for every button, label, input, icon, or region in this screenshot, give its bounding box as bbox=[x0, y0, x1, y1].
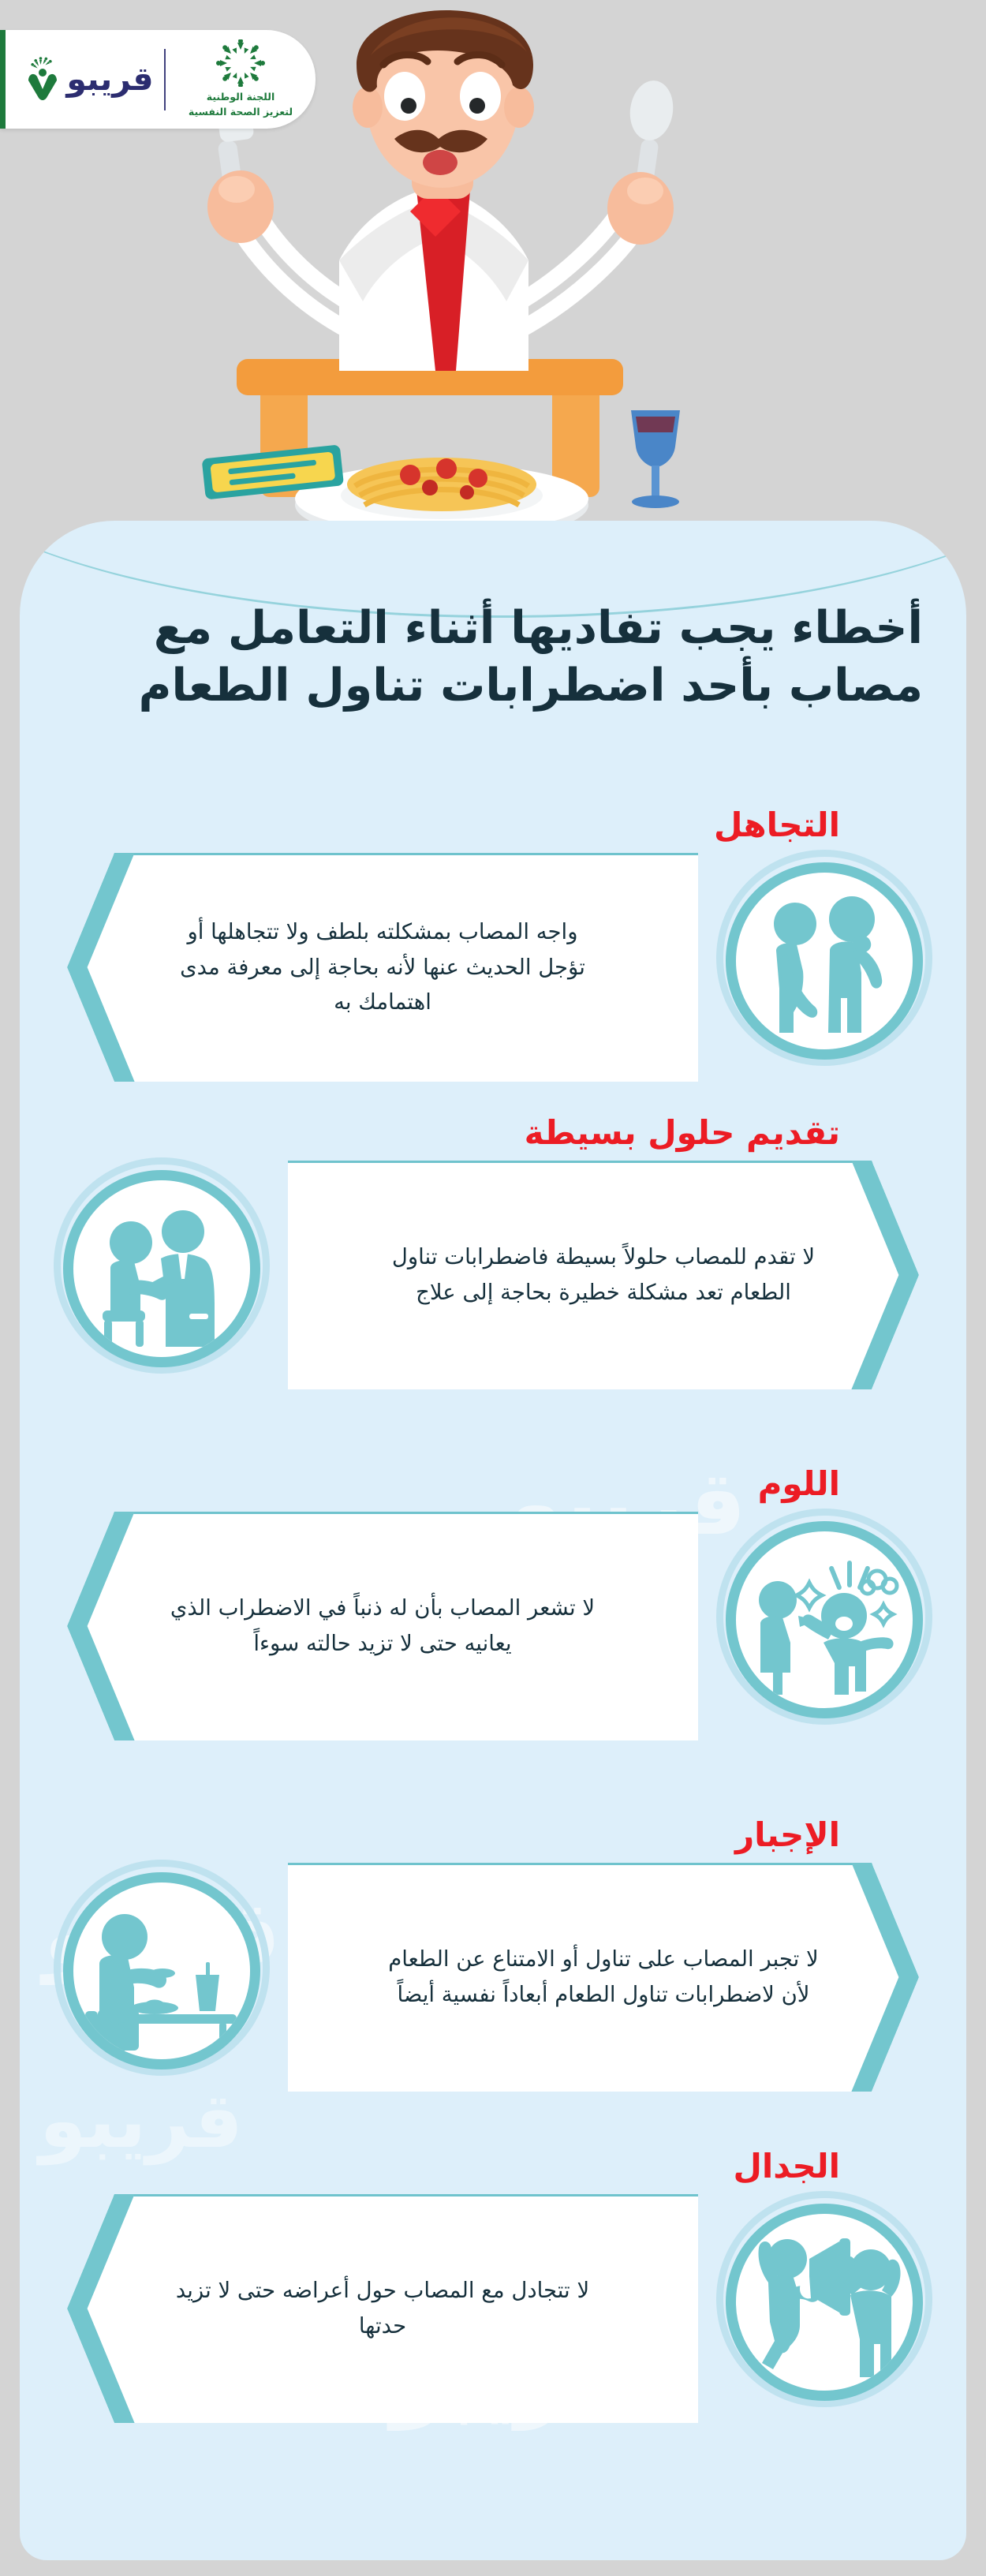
section-body: واجه المصاب بمشكلته بلطف ولا تتجاهلها أو… bbox=[162, 914, 603, 1020]
committee-name-line2: لتعزيز الصحة النفسية bbox=[189, 105, 293, 119]
section-text-box: لا تتجادل مع المصاب حول أعراضه حتى لا تز… bbox=[67, 2194, 698, 2423]
section-body: لا تقدم للمصاب حلولاً بسيطة فاضطرابات تن… bbox=[383, 1239, 824, 1310]
box-top-rule bbox=[288, 1161, 919, 1163]
section-forcing: الإجبار لا تجبر المصاب على تناول أو الام… bbox=[20, 1819, 966, 2099]
logo-bar: اللجنة الوطنية لتعزيز الصحة النفسية قريب… bbox=[0, 30, 316, 129]
person-shouting-blame-icon bbox=[726, 1521, 923, 1718]
box-top-rule bbox=[67, 2194, 698, 2197]
doctor-consulting-patient-icon bbox=[63, 1170, 260, 1367]
committee-logo: اللجنة الوطنية لتعزيز الصحة النفسية bbox=[166, 39, 316, 118]
section-text-box: لا تجبر المصاب على تناول أو الامتناع عن … bbox=[288, 1863, 919, 2092]
page-title: أخطاء يجب تفاديها أثناء التعامل مع مصاب … bbox=[63, 600, 923, 715]
section-arguing: الجدال لا تتجادل مع المصاب حول أعراضه حت… bbox=[20, 2150, 966, 2431]
section-body: لا تتجادل مع المصاب حول أعراضه حتى لا تز… bbox=[162, 2273, 603, 2343]
section-heading: اللوم bbox=[20, 1467, 966, 1501]
infographic-page: اللجنة الوطنية لتعزيز الصحة النفسية قريب… bbox=[0, 0, 986, 2576]
section-heading: الجدال bbox=[20, 2150, 966, 2183]
partner-logo: قريبو bbox=[10, 57, 164, 103]
committee-name-line1: اللجنة الوطنية bbox=[207, 90, 275, 104]
person-eating-at-table-icon bbox=[63, 1872, 260, 2069]
two-people-ignoring-icon bbox=[726, 862, 923, 1060]
megaphone-arguing-icon bbox=[726, 2204, 923, 2401]
section-text-box: واجه المصاب بمشكلته بلطف ولا تتجاهلها أو… bbox=[67, 853, 698, 1082]
logo-divider bbox=[164, 49, 166, 110]
partner-name: قريبو bbox=[66, 63, 153, 95]
content-card: قريبو قريبو قريبو قريبو أخطاء يجب تفاديه… bbox=[20, 521, 966, 2560]
box-top-rule bbox=[67, 1512, 698, 1514]
national-committee-mark-icon bbox=[212, 39, 269, 87]
box-top-rule bbox=[67, 853, 698, 855]
section-simple-solutions: تقديم حلول بسيطة لا تقدم للمصاب حلولاً ب… bbox=[20, 1116, 966, 1397]
section-ignoring: التجاهل واجه المصاب بمشكلته بلطف ولا تتج… bbox=[20, 809, 966, 1090]
section-body: لا تجبر المصاب على تناول أو الامتناع عن … bbox=[383, 1942, 824, 2012]
qaribo-person-icon bbox=[21, 57, 65, 103]
section-text-box: لا تقدم للمصاب حلولاً بسيطة فاضطرابات تن… bbox=[288, 1161, 919, 1389]
section-heading: التجاهل bbox=[20, 809, 966, 842]
section-heading: الإجبار bbox=[20, 1819, 966, 1852]
section-body: لا تشعر المصاب بأن له ذنباً في الاضطراب … bbox=[162, 1591, 603, 1661]
box-top-rule bbox=[288, 1863, 919, 1865]
section-blame: اللوم لا تشعر المصاب بأن له ذنباً في الا… bbox=[20, 1467, 966, 1748]
section-text-box: لا تشعر المصاب بأن له ذنباً في الاضطراب … bbox=[67, 1512, 698, 1740]
section-heading: تقديم حلول بسيطة bbox=[20, 1116, 966, 1150]
